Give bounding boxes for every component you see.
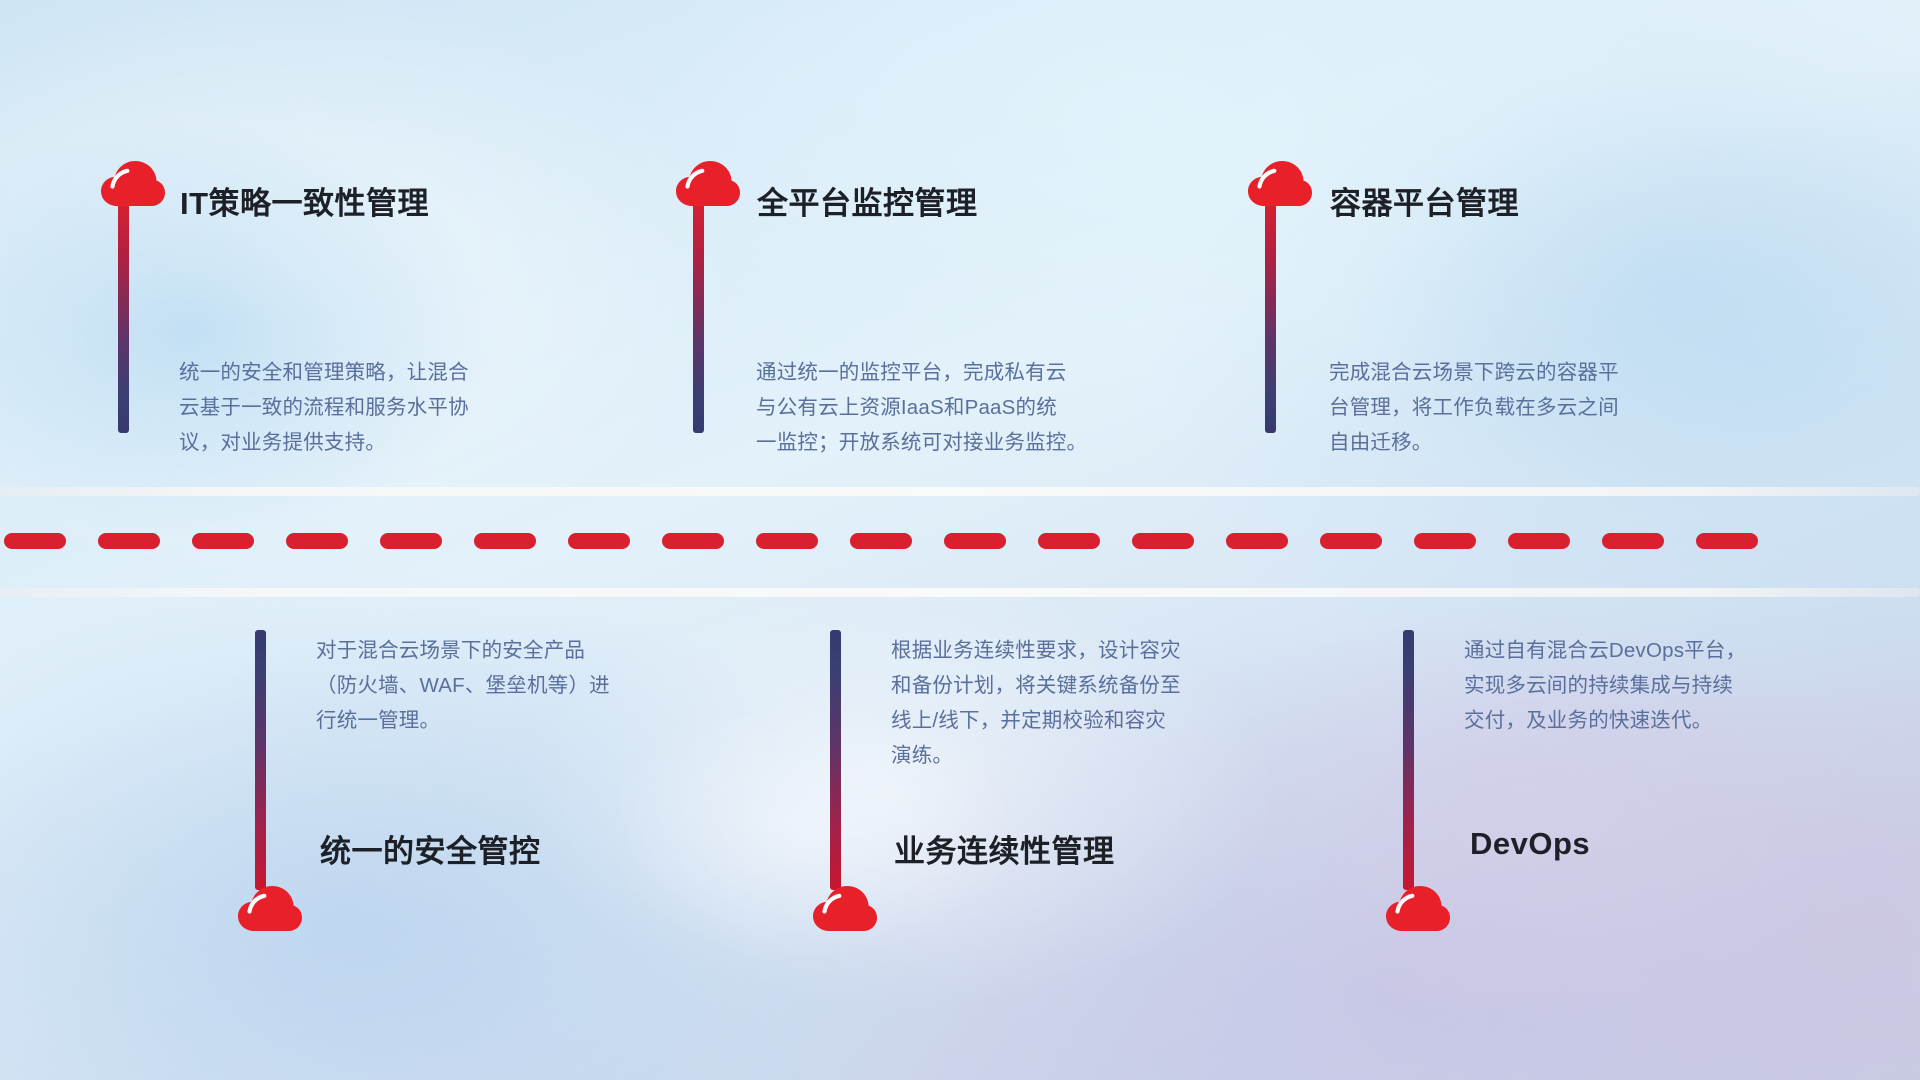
body-line: 交付，及业务的快速迭代。 (1464, 703, 1746, 738)
pin-line (118, 188, 129, 433)
cloud-icon (237, 885, 303, 933)
heading-container-platform: 容器平台管理 (1330, 178, 1519, 223)
road-dash (1696, 533, 1758, 549)
road-divider (0, 487, 1920, 597)
road-dash (756, 533, 818, 549)
pin-line (255, 630, 266, 890)
body-line: 议，对业务提供支持。 (179, 425, 469, 460)
road-dash (1038, 533, 1100, 549)
body-line: 统一的安全和管理策略，让混合 (179, 355, 469, 390)
road-dash (4, 533, 66, 549)
body-devops: 通过自有混合云DevOps平台， 实现多云间的持续集成与持续 交付，及业务的快速… (1464, 633, 1746, 738)
body-line: 一监控；开放系统可对接业务监控。 (756, 425, 1087, 460)
cloud-icon (1385, 885, 1451, 933)
pin-line (830, 630, 841, 890)
body-business-continuity: 根据业务连续性要求，设计容灾 和备份计划，将关键系统备份至 线上/线下，并定期校… (891, 633, 1181, 773)
body-line: 行统一管理。 (316, 703, 610, 738)
road-dash (286, 533, 348, 549)
body-line: 实现多云间的持续集成与持续 (1464, 668, 1746, 703)
cloud-icon (100, 160, 166, 208)
body-unified-security: 对于混合云场景下的安全产品 （防火墙、WAF、堡垒机等）进 行统一管理。 (316, 633, 610, 738)
body-line: 完成混合云场景下跨云的容器平 (1329, 355, 1619, 390)
road-dash (1508, 533, 1570, 549)
body-line: 演练。 (891, 738, 1181, 773)
road-dash (850, 533, 912, 549)
road-dash (98, 533, 160, 549)
pin-line (1265, 188, 1276, 433)
body-container-platform: 完成混合云场景下跨云的容器平 台管理，将工作负载在多云之间 自由迁移。 (1329, 355, 1619, 460)
road-dash (944, 533, 1006, 549)
heading-devops: DevOps (1470, 826, 1590, 862)
body-line: （防火墙、WAF、堡垒机等）进 (316, 668, 610, 703)
heading-business-continuity: 业务连续性管理 (894, 826, 1115, 871)
road-dash (662, 533, 724, 549)
road-band-top (0, 487, 1920, 496)
body-line: 自由迁移。 (1329, 425, 1619, 460)
body-line: 线上/线下，并定期校验和容灾 (891, 703, 1181, 738)
heading-full-platform-monitoring: 全平台监控管理 (757, 178, 978, 223)
road-dash (568, 533, 630, 549)
road-dash (380, 533, 442, 549)
pin-line (693, 188, 704, 433)
road-dash (192, 533, 254, 549)
road-dash (1132, 533, 1194, 549)
cloud-icon (1247, 160, 1313, 208)
road-dash (1602, 533, 1664, 549)
body-line: 根据业务连续性要求，设计容灾 (891, 633, 1181, 668)
body-full-platform-monitoring: 通过统一的监控平台，完成私有云 与公有云上资源IaaS和PaaS的统 一监控；开… (756, 355, 1087, 460)
body-line: 与公有云上资源IaaS和PaaS的统 (756, 390, 1087, 425)
road-dash (474, 533, 536, 549)
cloud-icon (675, 160, 741, 208)
body-line: 通过自有混合云DevOps平台， (1464, 633, 1746, 668)
body-line: 云基于一致的流程和服务水平协 (179, 390, 469, 425)
road-dash (1414, 533, 1476, 549)
road-band-bottom (0, 588, 1920, 597)
pin-line (1403, 630, 1414, 890)
body-line: 通过统一的监控平台，完成私有云 (756, 355, 1087, 390)
body-line: 台管理，将工作负载在多云之间 (1329, 390, 1619, 425)
body-line: 和备份计划，将关键系统备份至 (891, 668, 1181, 703)
cloud-icon (812, 885, 878, 933)
road-dash (1226, 533, 1288, 549)
heading-it-policy-consistency: IT策略一致性管理 (180, 178, 429, 223)
heading-unified-security: 统一的安全管控 (320, 826, 541, 871)
infographic-canvas: IT策略一致性管理 统一的安全和管理策略，让混合 云基于一致的流程和服务水平协 … (0, 0, 1920, 1080)
body-it-policy-consistency: 统一的安全和管理策略，让混合 云基于一致的流程和服务水平协 议，对业务提供支持。 (179, 355, 469, 460)
road-dash (1320, 533, 1382, 549)
body-line: 对于混合云场景下的安全产品 (316, 633, 610, 668)
road-dashed-centerline (0, 533, 1920, 549)
